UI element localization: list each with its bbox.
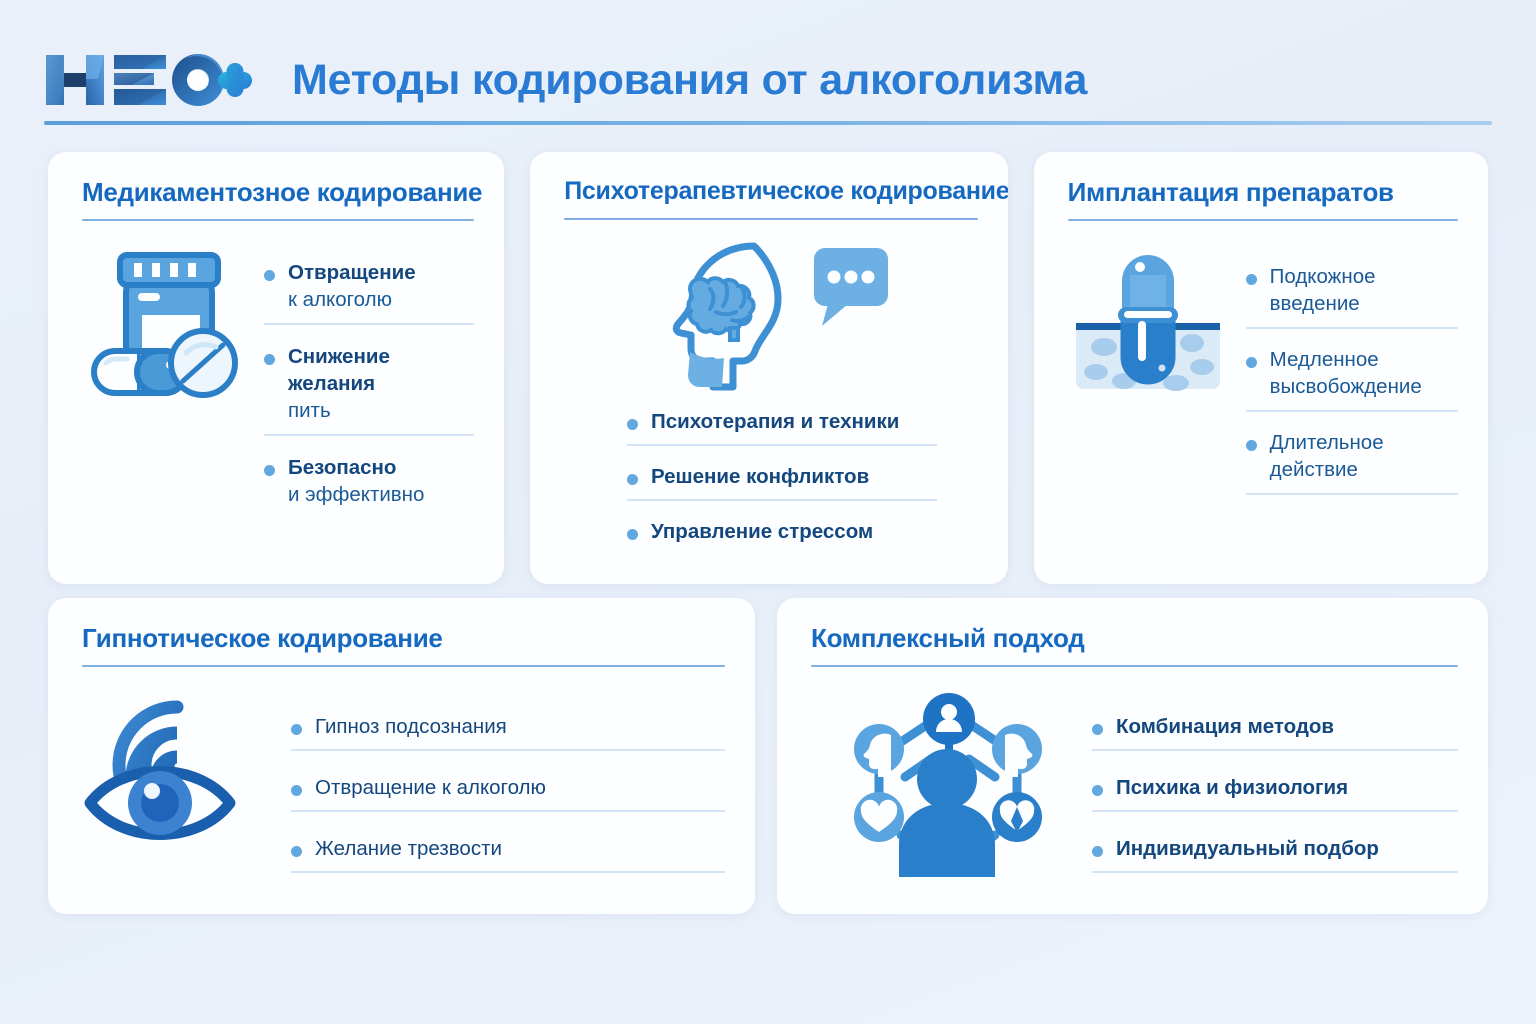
icon-container	[1068, 241, 1228, 401]
feature-list-complex: Комбинация методов Психика и физиология …	[1092, 713, 1458, 896]
bullet-dot-icon	[627, 529, 638, 540]
list-item-line1: Психика и физиология	[1116, 774, 1458, 801]
bullet-dot-icon	[1246, 274, 1257, 285]
list-item[interactable]: Управление стрессом	[627, 518, 937, 554]
card-title-implant: Имплантация препаратов	[1068, 178, 1458, 207]
list-item[interactable]: Решение конфликтов	[627, 463, 937, 501]
bullet-dot-icon	[1092, 785, 1103, 796]
card-title-underline	[82, 665, 725, 667]
bullet-dot-icon	[1092, 846, 1103, 857]
list-item[interactable]: Индивидуальный подбор	[1092, 835, 1458, 873]
list-item-line1: Гипноз подсознания	[315, 713, 725, 740]
pill-bottle-icon	[82, 241, 250, 409]
list-item-line1: Комбинация методов	[1116, 713, 1458, 740]
card-implant[interactable]: Имплантация препаратов	[1034, 152, 1488, 584]
page-header: Методы кодирования от алкоголизма	[42, 32, 1494, 128]
list-item[interactable]: Психика и физиология	[1092, 774, 1458, 812]
list-item-line1: Медленное	[1270, 346, 1458, 373]
feature-list-implant: Подкожное введение Медленное высвобожден…	[1246, 263, 1458, 512]
bullet-dot-icon	[1246, 440, 1257, 451]
list-item-line1: Психотерапия и техники	[651, 408, 937, 435]
bullet-dot-icon	[291, 724, 302, 735]
feature-list-psychotherapy: Психотерапия и техники Решение конфликто…	[627, 408, 937, 571]
cards-row-bottom: Гипнотическое кодирование	[48, 598, 1488, 914]
card-hypnosis[interactable]: Гипнотическое кодирование	[48, 598, 755, 914]
card-title-underline	[1068, 219, 1458, 221]
list-item-line1: Решение конфликтов	[651, 463, 937, 490]
list-item-line1: Отвращение	[288, 259, 474, 286]
capsule-implant-icon	[1068, 241, 1228, 401]
card-complex-approach[interactable]: Комплексный подход	[777, 598, 1488, 914]
list-item-line1: Индивидуальный подбор	[1116, 835, 1458, 862]
list-item-line2: и эффективно	[288, 481, 474, 508]
bullet-dot-icon	[291, 785, 302, 796]
bullet-dot-icon	[627, 419, 638, 430]
card-title-complex: Комплексный подход	[811, 624, 1458, 653]
card-title-underline	[811, 665, 1458, 667]
list-item[interactable]: Комбинация методов	[1092, 713, 1458, 751]
page-title: Методы кодирования от алкоголизма	[292, 56, 1087, 105]
bullet-dot-icon	[1246, 357, 1257, 368]
bullet-dot-icon	[627, 474, 638, 485]
bullet-dot-icon	[264, 270, 275, 281]
list-item[interactable]: Отвращение к алкоголю	[291, 774, 725, 812]
neo-plus-logo-icon	[42, 49, 254, 111]
card-medication[interactable]: Медикаментозное кодирование	[48, 152, 504, 584]
list-item-line2: к алкоголю	[288, 286, 474, 313]
list-item[interactable]: Отвращение к алкоголю	[264, 259, 474, 325]
list-item-line1: Снижение желания	[288, 343, 474, 397]
list-item[interactable]: Снижение желания пить	[264, 343, 474, 436]
card-title-underline	[564, 218, 977, 220]
icon-container	[646, 234, 896, 402]
list-item[interactable]: Медленное высвобождение	[1246, 346, 1458, 412]
list-item[interactable]: Безопасно и эффективно	[264, 454, 474, 518]
bullet-dot-icon	[1092, 724, 1103, 735]
list-item-line2: пить	[288, 397, 474, 424]
list-item-line1: Длительное действие	[1270, 429, 1458, 483]
hypnosis-eye-spiral-icon	[82, 687, 257, 852]
people-network-icon	[839, 687, 1054, 882]
list-item-line1: Отвращение к алкоголю	[315, 774, 725, 801]
icon-container	[839, 687, 1054, 882]
list-item-line1: Безопасно	[288, 454, 474, 481]
list-item[interactable]: Длительное действие	[1246, 429, 1458, 495]
list-item-line2: высвобождение	[1270, 373, 1458, 400]
feature-list-hypnosis: Гипноз подсознания Отвращение к алкоголю…	[291, 713, 725, 896]
list-item-line1: Желание трезвости	[315, 835, 725, 862]
card-psychotherapy[interactable]: Психотерапевтическое кодирование	[530, 152, 1007, 584]
list-item[interactable]: Гипноз подсознания	[291, 713, 725, 751]
icon-container	[82, 241, 250, 409]
bullet-dot-icon	[264, 465, 275, 476]
feature-list-medication: Отвращение к алкоголю Снижение желания п…	[264, 259, 474, 536]
list-item-line1: Управление стрессом	[651, 518, 937, 545]
card-title-hypnosis: Гипнотическое кодирование	[82, 624, 725, 653]
list-item[interactable]: Подкожное введение	[1246, 263, 1458, 329]
card-title-medication: Медикаментозное кодирование	[82, 178, 474, 207]
card-title-psychotherapy: Психотерапевтическое кодирование	[564, 178, 977, 206]
card-title-underline	[82, 219, 474, 221]
list-item[interactable]: Психотерапия и техники	[627, 408, 937, 446]
icon-container	[82, 687, 257, 852]
bullet-dot-icon	[264, 354, 275, 365]
bullet-dot-icon	[291, 846, 302, 857]
header-divider	[44, 121, 1492, 125]
list-item[interactable]: Желание трезвости	[291, 835, 725, 873]
head-brain-speech-icon	[646, 234, 896, 402]
list-item-line1: Подкожное введение	[1270, 263, 1458, 317]
cards-row-top: Медикаментозное кодирование	[48, 152, 1488, 584]
